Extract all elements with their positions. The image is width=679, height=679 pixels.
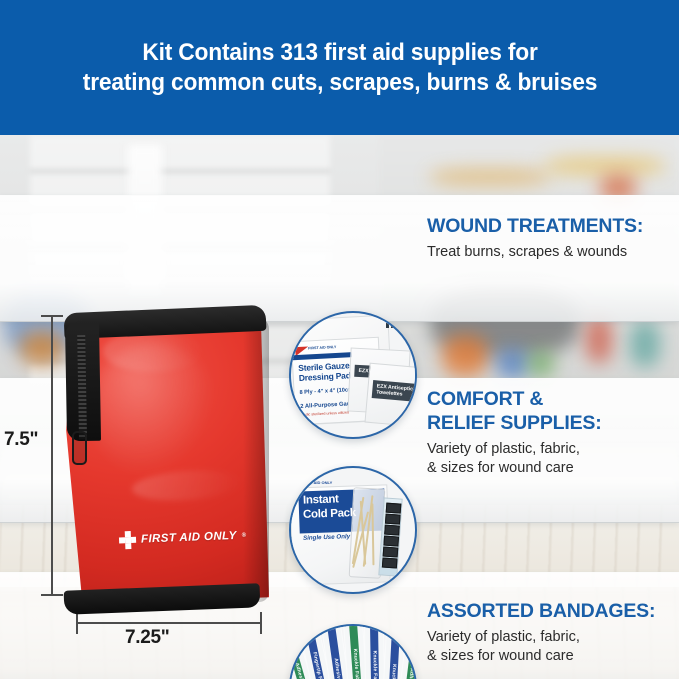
package-brand-mark: FIRST AID ONLY: [308, 345, 336, 350]
photo-circle-wound-treatments: FIRST AID ONLY Sterile Gauze Dressing Pa…: [289, 311, 417, 439]
callout-subtitle-comfort-relief-line-2: & sizes for wound care: [427, 459, 602, 478]
callout-assorted-bandages: ASSORTED BANDAGES: Variety of plastic, f…: [427, 600, 655, 667]
background-blob-blue: [496, 349, 530, 379]
photo-comfort-relief-content: FIRST AID ONLY Instant Cold Pack Single …: [291, 468, 415, 592]
background-blob-toy-2: [20, 331, 64, 365]
width-dimension-cap-left: [76, 612, 78, 634]
callout-title-wound-treatments: WOUND TREATMENTS:: [427, 215, 643, 239]
bandage-wrapper-label: Adhesive Bandage: [333, 658, 346, 679]
callout-comfort-relief: COMFORT & RELIEF SUPPLIES: Variety of pl…: [427, 388, 602, 478]
cold-pack-brand-mark: FIRST AID ONLY: [301, 480, 332, 485]
towelette-label-front: EZX Antiseptic Towelettes: [372, 380, 417, 403]
package-spec-text: 8 Ply - 4" x 4" (10cm): [299, 387, 355, 396]
bandage-wrapper-label: Knuckle Fabric B: [389, 664, 397, 679]
first-aid-cross-icon: [119, 531, 137, 549]
callout-wound-treatments: WOUND TREATMENTS: Treat burns, scrapes &…: [427, 215, 643, 262]
background-blob-green: [528, 351, 554, 377]
callout-subtitle-comfort-relief-line-1: Variety of plastic, fabric,: [427, 440, 602, 459]
callout-subtitle-assorted-bandages-line-2: & sizes for wound care: [427, 647, 655, 666]
width-dimension-cap-right: [260, 612, 262, 634]
height-dimension-label: 7.5": [4, 429, 38, 451]
header-banner: Kit Contains 313 first aid supplies for …: [0, 0, 679, 135]
first-aid-kit-bag: FIRST AID ONLY ®: [62, 313, 269, 606]
package-towelette-front: EZX Antiseptic Towelettes: [364, 363, 417, 428]
zipper-pull-icon: [72, 431, 87, 465]
callout-title-comfort-relief-line-2: RELIEF SUPPLIES:: [427, 412, 602, 436]
bag-side-shadow: [243, 317, 269, 602]
package-note-text: medic sterilized unless utilized: [301, 410, 349, 417]
brand-trademark-mark: ®: [242, 532, 247, 538]
background-blob-orange-2: [442, 335, 488, 377]
callout-subtitle-wound-treatments: Treat burns, scrapes & wounds: [427, 243, 643, 262]
product-scene: 7.5" 7.25" FIRST AID ONLY: [0, 135, 679, 679]
brand-logo-text: FIRST AID ONLY: [141, 529, 237, 545]
width-dimension-line: [76, 622, 262, 624]
bag-zipper: [65, 321, 101, 442]
zipper-teeth: [77, 335, 87, 439]
header-title-line-1: Kit Contains 313 first aid supplies for: [61, 38, 619, 68]
product-infographic: Kit Contains 313 first aid supplies for …: [0, 0, 679, 679]
callout-subtitle-assorted-bandages-line-1: Variety of plastic, fabric,: [427, 628, 655, 647]
photo-circle-comfort-relief: FIRST AID ONLY Instant Cold Pack Single …: [289, 466, 417, 594]
bandage-wrapper-label: Knuckle Fabric Bandage: [352, 648, 362, 679]
photo-wound-treatments-content: FIRST AID ONLY Sterile Gauze Dressing Pa…: [291, 313, 415, 437]
cold-pack-title-line-1: Instant: [303, 493, 339, 506]
callout-title-comfort-relief-line-1: COMFORT &: [427, 388, 602, 412]
background-blob-red-2: [586, 315, 612, 363]
photo-assorted-bandages-content: Adhesive Bandage Fingertip Fabric Bandag…: [291, 626, 415, 679]
height-dimension-line: [51, 315, 53, 596]
photo-circle-assorted-bandages: Adhesive Bandage Fingertip Fabric Bandag…: [289, 624, 417, 679]
safety-pin-card: [378, 497, 402, 576]
header-title: Kit Contains 313 first aid supplies for …: [61, 38, 619, 98]
background-blob-teal: [630, 321, 660, 367]
background-blob-yellow: [545, 157, 665, 175]
header-title-line-2: treating common cuts, scrapes, burns & b…: [61, 68, 619, 98]
callout-title-assorted-bandages: ASSORTED BANDAGES:: [427, 600, 655, 624]
height-dimension-cap-bottom: [41, 594, 63, 596]
package-title-line-2: Dressing Pads: [299, 371, 356, 383]
bandage-wrapper-label: Knuckle Fabric Bandage: [371, 651, 378, 679]
bandage-wrapper-label: Adhesive Bandage: [403, 668, 415, 679]
background-blob-orange: [430, 169, 550, 185]
cold-pack-title-line-2: Cold Pack: [303, 507, 356, 521]
package-barcode-icon: [386, 323, 399, 328]
height-dimension-cap-top: [41, 315, 63, 317]
width-dimension-label: 7.25": [125, 627, 170, 649]
